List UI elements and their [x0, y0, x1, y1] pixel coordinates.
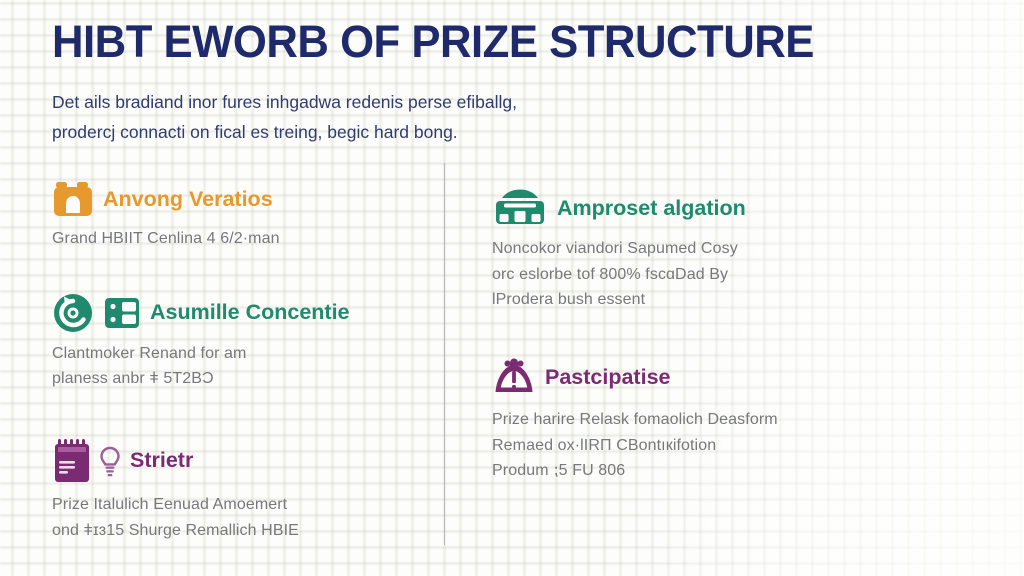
body-line: orc eslorbe tof 800% fscɑDad By — [492, 262, 836, 287]
subtitle-line-2: prodercj connacti on fical es treing, be… — [52, 117, 742, 147]
block-title: Strietr — [130, 449, 193, 473]
block-body: Grand HBIIT Cenlina 4 6/2·man — [52, 226, 426, 251]
notepad-icon — [52, 437, 92, 485]
columns-container: Anvong Veratios Grand HBIIT Cenlina 4 6/… — [52, 173, 972, 573]
bank-roof-icon — [492, 187, 548, 229]
body-line: Prize Italulich Eenuad Amoemert — [52, 492, 426, 517]
block-body: Prize Italulich Eenuad Amoemert ond ǂɪɜ1… — [52, 492, 426, 543]
block-title: Pastcipatise — [545, 366, 670, 390]
right-column: Amproset algation Noncokor viandori Sapu… — [444, 173, 836, 573]
body-line: Grand HBIIT Cenlina 4 6/2·man — [52, 226, 426, 251]
alert-shield-icon — [492, 356, 536, 400]
block-amproset-algation: Amproset algation Noncokor viandori Sapu… — [492, 187, 836, 312]
block-asumille-concentie: Asumille Concentie Clantmoker Renand for… — [52, 292, 426, 392]
block-body: Clantmoker Renand for am planess anbr ǂ … — [52, 341, 426, 392]
block-anvong-veratios: Anvong Veratios Grand HBIIT Cenlina 4 6/… — [52, 179, 426, 251]
body-line: Remaed ox·lIRΠ CBontıкifotion — [492, 433, 836, 458]
left-column: Anvong Veratios Grand HBIIT Cenlina 4 6/… — [52, 173, 444, 573]
body-line: planess anbr ǂ 5T2BƆ — [52, 366, 426, 391]
block-header: Amproset algation — [492, 187, 836, 229]
column-divider — [444, 163, 445, 545]
subtitle-line-1: Det ails bradiand inor fures inhgadwa re… — [52, 87, 742, 117]
block-header: Anvong Veratios — [52, 179, 426, 219]
block-title: Asumille Concentie — [150, 301, 350, 325]
body-line: Produm ⁏5 FU 806 — [492, 458, 836, 483]
bank-building-icon — [52, 179, 94, 219]
body-line: ond ǂɪɜ15 Shurge Remallich HBIE — [52, 518, 426, 543]
body-line: Noncokor viandori Sapumed Cosy — [492, 236, 836, 261]
grid-list-icon — [103, 294, 141, 332]
infographic-root: HIBT EWORB OF PRIZE STRUCTURE Det ails b… — [0, 0, 1024, 576]
block-header: Asumille Concentie — [52, 292, 426, 334]
block-header: Strietr — [52, 437, 426, 485]
body-line: lProdera bush essent — [492, 287, 836, 312]
body-line: Clantmoker Renand for am — [52, 341, 426, 366]
body-line: Prize harire Relask fomaolich Deasform — [492, 407, 836, 432]
subtitle: Det ails bradiand inor fures inhgadwa re… — [52, 87, 742, 147]
refresh-circle-icon — [52, 292, 94, 334]
block-pastcipatise: Pastcipatise Prize harire Relask fomaoli… — [492, 356, 836, 483]
block-body: Noncokor viandori Sapumed Cosy orc eslor… — [492, 236, 836, 312]
block-body: Prize harire Relask fomaolich Deasform R… — [492, 407, 836, 483]
block-strietr: Strietr Prize Italulich Eenuad Amoemert … — [52, 437, 426, 543]
block-title: Amproset algation — [557, 197, 746, 221]
block-title: Anvong Veratios — [103, 188, 273, 212]
lightbulb-icon — [99, 444, 121, 478]
block-header: Pastcipatise — [492, 356, 836, 400]
page-title: HIBT EWORB OF PRIZE STRUCTURE — [52, 18, 944, 65]
header: HIBT EWORB OF PRIZE STRUCTURE Det ails b… — [52, 14, 972, 147]
